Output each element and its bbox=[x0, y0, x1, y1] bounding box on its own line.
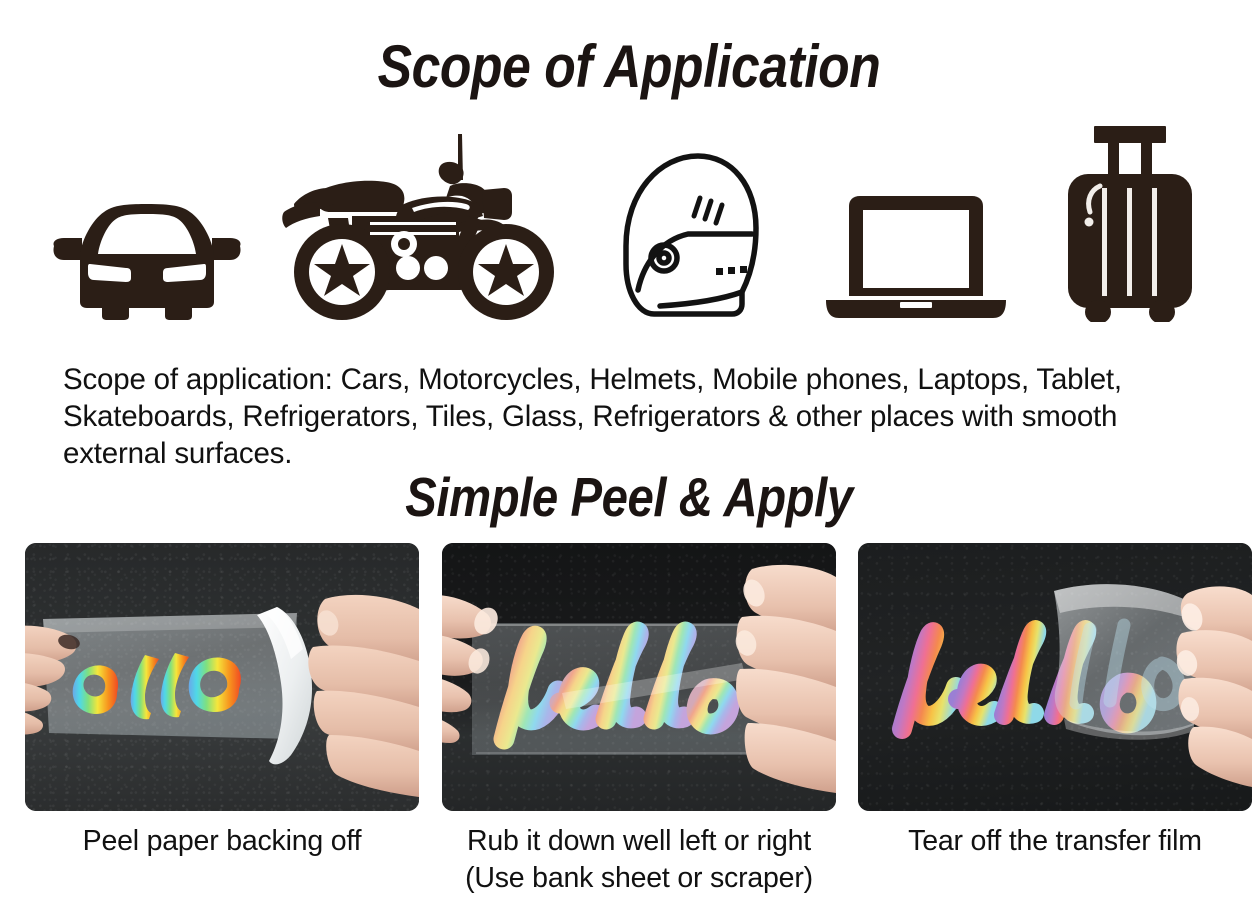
motorcycle-icon bbox=[282, 132, 574, 322]
laptop-icon bbox=[822, 196, 1010, 322]
step-2-caption: Rub it down well left or right (Use bank… bbox=[442, 823, 836, 897]
suitcase-icon bbox=[1058, 122, 1202, 322]
application-icon-row bbox=[40, 110, 1225, 322]
step-2-caption-line-2: (Use bank sheet or scraper) bbox=[442, 860, 836, 897]
scope-description-text: Scope of application: Cars, Motorcycles,… bbox=[63, 361, 1223, 472]
step-1-photo bbox=[25, 543, 419, 811]
helmet-icon bbox=[616, 142, 766, 322]
car-icon bbox=[52, 202, 242, 322]
page-title-simple-peel-and-apply: Simple Peel & Apply bbox=[88, 467, 1170, 527]
step-2-caption-line-1: Rub it down well left or right bbox=[442, 823, 836, 860]
peel-apply-steps: Peel paper backing off bbox=[0, 543, 1258, 921]
step-1: Peel paper backing off bbox=[25, 543, 419, 860]
step-3-caption-line-1: Tear off the transfer film bbox=[858, 823, 1252, 860]
page-title-scope-of-application: Scope of Application bbox=[88, 34, 1170, 100]
step-1-caption: Peel paper backing off bbox=[25, 823, 419, 860]
step-3-photo bbox=[858, 543, 1252, 811]
step-1-caption-line-1: Peel paper backing off bbox=[25, 823, 419, 860]
step-3-caption: Tear off the transfer film bbox=[858, 823, 1252, 860]
step-2-photo bbox=[442, 543, 836, 811]
step-3: Tear off the transfer film bbox=[858, 543, 1252, 860]
step-2: Rub it down well left or right (Use bank… bbox=[442, 543, 836, 897]
